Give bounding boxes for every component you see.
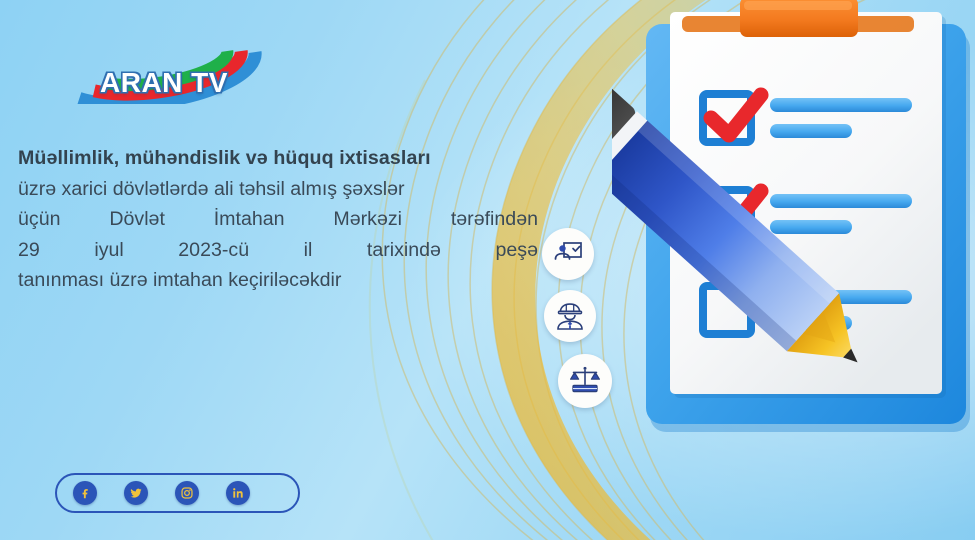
- promo-banner: ARAN TV Müəllimlik, mühəndislik və hüquq…: [0, 0, 975, 540]
- clipboard-clip: [682, 0, 914, 37]
- social-links-bar: [55, 473, 300, 513]
- badge-teacher: [542, 228, 594, 280]
- headline-block: Müəllimlik, mühəndislik və hüquq ixtisas…: [18, 143, 538, 296]
- scales-of-justice-icon: [567, 363, 603, 399]
- facebook-icon: [78, 486, 92, 500]
- headline-line-1: Müəllimlik, mühəndislik və hüquq ixtisas…: [18, 143, 538, 174]
- badge-engineer: [544, 290, 596, 342]
- twitter-icon: [129, 486, 143, 500]
- teacher-board-icon: [551, 237, 585, 271]
- logo-wordmark: ARAN TV: [100, 67, 300, 99]
- social-link-instagram[interactable]: [175, 481, 199, 505]
- headline-line-2: üzrə xarici dövlətlərdə ali təhsil almış…: [18, 174, 538, 205]
- engineer-hardhat-icon: [553, 299, 587, 333]
- linkedin-icon: [231, 486, 245, 500]
- instagram-icon: [180, 486, 194, 500]
- headline-line-4: 29 iyul 2023-cü il tarixində peşə: [18, 235, 538, 266]
- aran-tv-logo[interactable]: ARAN TV: [38, 22, 268, 104]
- social-link-facebook[interactable]: [73, 481, 97, 505]
- social-link-linkedin[interactable]: [226, 481, 250, 505]
- headline-line-3: üçün Dövlət İmtahan Mərkəzi tərəfindən: [18, 204, 538, 235]
- badge-law: [558, 354, 612, 408]
- social-link-twitter[interactable]: [124, 481, 148, 505]
- clipboard-illustration: [612, 0, 975, 464]
- headline-line-5: tanınması üzrə imtahan keçiriləcəkdir: [18, 265, 538, 296]
